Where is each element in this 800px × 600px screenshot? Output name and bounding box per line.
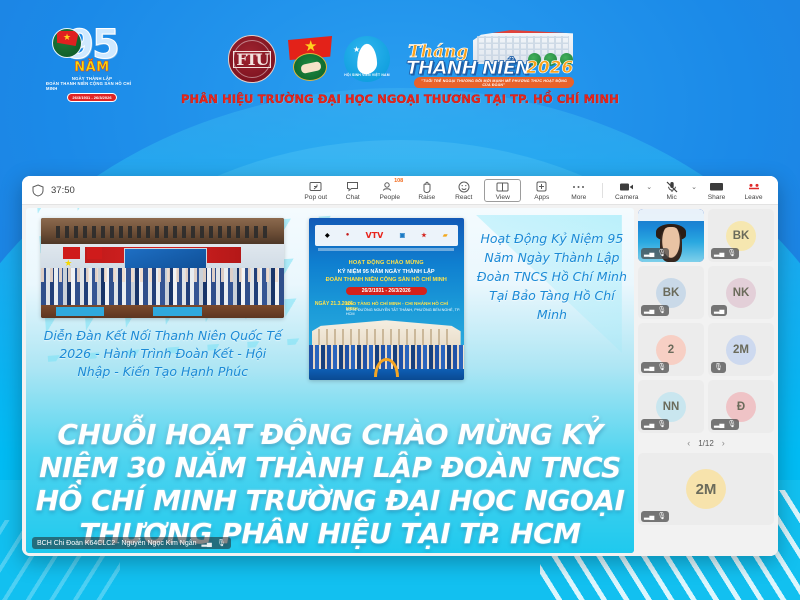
avatar: 2 (656, 335, 686, 365)
raise-hand-icon (421, 181, 432, 193)
react-icon (458, 181, 470, 193)
poster-line-1: HOẠT ĐỘNG CHÀO MỪNG (309, 260, 464, 266)
mic-muted-icon: 🎙 (657, 421, 666, 429)
toolbar-chat-button[interactable]: Chat (334, 178, 371, 203)
hand-icon (300, 61, 321, 74)
tile-status-controls: ▂▄ 🎙 (641, 362, 669, 373)
toolbar-right-group: Pop out Chat 108 People Raise (297, 178, 772, 203)
avatar: 2M (686, 469, 726, 509)
share-screen-button[interactable]: Share (698, 178, 735, 203)
pager-prev-button[interactable]: ‹ (687, 438, 690, 448)
camera-chevron-down-icon[interactable]: ⌄ (645, 176, 653, 203)
slide-photo-caption: Diễn Đàn Kết Nối Thanh Niên Quốc Tế 2026… (41, 327, 284, 381)
doan-emblem-circle (293, 53, 327, 81)
signal-icon: ▂▄ (644, 513, 654, 521)
leave-label: Leave (745, 194, 763, 201)
mic-label: Mic (666, 194, 676, 201)
page-header: 95 ★ NĂM NGÀY THÀNH LẬP ĐOÀN THANH NIÊN … (0, 0, 800, 120)
participants-pager: ‹ 1/12 › (638, 437, 774, 449)
event-poster-image: ◆ ● VTV ▣ ★ ▰ HOẠT ĐỘNG CHÀO MỪNG KỶ NIỆ… (309, 218, 464, 380)
participant-tile[interactable]: BK ▂▄ 🎙 (638, 266, 704, 319)
participant-tile[interactable]: Đ ▂▄ 🎙 (708, 380, 774, 433)
thang-thanh-nien-logo: Tháng THANH NIÊN 2026 "TUỔI TRẺ NGOẠI TH… (404, 30, 579, 88)
participant-tile[interactable]: NK ▂▄ (708, 266, 774, 319)
doan-emblem-icon: ★ (52, 28, 82, 58)
tile-status-controls: ▂▄ 🎙 (711, 248, 739, 259)
avatar: BK (726, 221, 756, 251)
share-screen-icon (709, 181, 724, 193)
avatar: Đ (726, 392, 756, 422)
mic-muted-icon: 🎙 (727, 250, 736, 258)
slide-poster-block: ◆ ● VTV ▣ ★ ▰ HOẠT ĐỘNG CHÀO MỪNG KỶ NIỆ… (309, 218, 464, 380)
toolbar-left-group: 37:50 (28, 184, 75, 197)
anniversary-sub2: ĐOÀN THANH NIÊN CỘNG SẢN HỒ CHÍ MINH (46, 81, 138, 91)
doan-tncs-seal-icon: ★ (286, 35, 334, 83)
signal-icon: ▂▄ (644, 250, 654, 258)
mic-muted-icon: 🎙 (657, 513, 666, 521)
poster-divider (318, 248, 454, 251)
poster-logo-1: ◆ (325, 232, 330, 239)
photo-flag-right (87, 247, 102, 259)
chat-icon (346, 181, 359, 193)
avatar: 2M (726, 335, 756, 365)
toolbar-pop-out-button[interactable]: Pop out (297, 178, 334, 203)
thang-slogan-text: "TUỔI TRẺ NGOẠI THƯƠNG ĐỔI MỚI MẠNH MẼ P… (413, 77, 574, 88)
page-title: PHÂN HIỆU TRƯỜNG ĐẠI HỌC NGOẠI THƯƠNG TẠ… (0, 92, 800, 106)
tile-status-controls: ▂▄ 🎙 (641, 419, 669, 430)
poster-line-2: KỶ NIỆM 95 NĂM NGÀY THÀNH LẬP (309, 269, 464, 275)
presentation-slide: ★ Diễn Đàn Kết Nối Thanh Niên Quốc Tế 20… (26, 208, 634, 553)
meeting-timer: 37:50 (51, 185, 75, 196)
toolbar-react-button[interactable]: React (445, 178, 482, 203)
participant-tile[interactable]: 2 ▂▄ 🎙 (638, 323, 704, 376)
toolbar-apps-label: Apps (534, 194, 549, 201)
participant-tile-video[interactable]: ▂▄ 🎙 (638, 209, 704, 262)
avatar: BK (656, 278, 686, 308)
yellow-star-icon: ★ (304, 39, 317, 54)
star-icon: ★ (63, 33, 71, 42)
mic-button[interactable]: Mic (653, 178, 690, 203)
participant-tile[interactable]: NN ▂▄ 🎙 (638, 380, 704, 433)
ftu-seal-icon: FTU (228, 35, 276, 83)
avatar: NK (726, 278, 756, 308)
mic-chevron-down-icon[interactable]: ⌄ (690, 176, 698, 203)
poster-logo-4: ★ (421, 232, 426, 239)
tile-status-controls: 🎙 (711, 362, 726, 373)
photo-table-cloth-left (56, 307, 105, 316)
slide-photo-block: ★ Diễn Đàn Kết Nối Thanh Niên Quốc Tế 20… (41, 218, 284, 381)
pager-page-label: 1/12 (698, 439, 714, 448)
shared-screen-stage[interactable]: ★ Diễn Đàn Kết Nối Thanh Niên Quốc Tế 20… (26, 208, 634, 553)
thanh-nien-text: THANH NIÊN (406, 57, 530, 79)
header-logo-row: FTU ★ ★ HỘI SINH VIÊN VIỆT NAM Tháng THA… (228, 30, 579, 88)
participant-tile[interactable]: 2M 🎙 (708, 323, 774, 376)
photo-crowd-heads (41, 268, 284, 282)
poster-line-3: ĐOÀN THANH NIÊN CỘNG SẢN HỒ CHÍ MINH (309, 277, 464, 283)
signal-icon: ▂▄ (644, 421, 654, 429)
tile-status-controls: ▂▄ 🎙 (641, 511, 669, 522)
signal-icon: ▂▄ (714, 307, 724, 315)
mic-muted-icon: 🎙 (657, 364, 666, 372)
presenter-name-label: BCH Chi Đoàn K64CLC2 - Nguyễn Ngọc Kim N… (37, 540, 197, 547)
participant-tile[interactable]: BK ▂▄ 🎙 (708, 209, 774, 262)
toolbar-pop-out-label: Pop out (304, 194, 327, 201)
poster-date-badge: 26/3/1931 - 26/3/2026 (346, 287, 427, 295)
apps-icon (536, 181, 547, 193)
pop-out-icon (309, 181, 322, 193)
signal-icon: ▂▄ (714, 250, 724, 258)
poster-logo-2: ● (346, 232, 350, 238)
poster-logo-5: ▰ (443, 232, 448, 239)
group-photo-image: ★ (41, 218, 284, 318)
mic-muted-icon: 🎙 (217, 539, 226, 547)
camera-icon (619, 181, 634, 193)
pager-next-button[interactable]: › (722, 438, 725, 448)
zoom-toolbar: 37:50 Pop out Chat 108 People (22, 176, 778, 205)
mic-muted-icon: 🎙 (727, 421, 736, 429)
toolbar-chat-label: Chat (346, 194, 360, 201)
presenter-name-tag: BCH Chi Đoàn K64CLC2 - Nguyễn Ngọc Kim N… (32, 537, 231, 549)
poster-vtv-logo: VTV (366, 231, 384, 240)
toolbar-people-button[interactable]: 108 People (371, 178, 408, 203)
photo-projector-screen (124, 248, 207, 270)
poster-address: SỐ 01 ĐƯỜNG NGUYỄN TẤT THÀNH, PHƯỜNG BẾN… (346, 308, 461, 316)
toolbar-raise-label: Raise (418, 194, 435, 201)
mic-muted-icon: 🎙 (657, 250, 666, 258)
shield-icon[interactable] (32, 184, 44, 197)
photo-stage-lights (56, 226, 270, 238)
star-icon: ★ (353, 45, 360, 54)
toolbar-apps-button[interactable]: Apps (523, 178, 560, 203)
tile-status-controls: ▂▄ (711, 305, 727, 316)
people-count-badge: 108 (394, 178, 403, 184)
toolbar-more-label: More (571, 194, 586, 201)
zoom-meeting-window: 37:50 Pop out Chat 108 People (22, 176, 778, 556)
toolbar-raise-hand-button[interactable]: Raise (408, 178, 445, 203)
people-icon: 108 (382, 181, 397, 193)
toolbar-more-button[interactable]: More (560, 178, 597, 203)
slide-poster-caption: Hoạt Động Kỷ Niệm 95 Năm Ngày Thành Lập … (476, 229, 628, 324)
toolbar-people-label: People (379, 194, 400, 201)
camera-button[interactable]: Camera (608, 178, 645, 203)
tile-status-controls: ▂▄ 🎙 (641, 305, 669, 316)
mic-muted-icon (666, 181, 678, 193)
camera-label: Camera (615, 194, 638, 201)
toolbar-react-label: React (455, 194, 472, 201)
view-icon (496, 181, 509, 193)
slide-banner-headline: CHUỖI HOẠT ĐỘNG CHÀO MỪNG KỶ NIỆM 30 NĂM… (26, 418, 634, 550)
participants-grid: ▂▄ 🎙 BK ▂▄ 🎙 BK ▂▄ 🎙 (638, 209, 774, 433)
participants-panel: ▂▄ 🎙 BK ▂▄ 🎙 BK ▂▄ 🎙 (636, 205, 778, 556)
signal-icon: ▂▄ (644, 364, 654, 372)
more-icon (572, 181, 585, 193)
photo-table-cloth-right (153, 307, 202, 316)
spotlight-participant-tile[interactable]: 2M ▂▄ 🎙 (638, 453, 774, 525)
leave-icon (747, 181, 761, 193)
tile-status-controls: ▂▄ 🎙 (711, 419, 739, 430)
mic-muted-icon: 🎙 (714, 364, 723, 372)
poster-logo-3: ▣ (399, 232, 405, 239)
leave-button[interactable]: Leave (735, 178, 772, 203)
signal-icon: ▂▄ (202, 539, 212, 547)
participant-video-backdrop (638, 209, 704, 221)
zoom-meeting-body: ★ Diễn Đàn Kết Nối Thanh Niên Quốc Tế 20… (22, 205, 778, 556)
hoi-sinh-vien-seal-icon: ★ HỘI SINH VIÊN VIỆT NAM (344, 36, 390, 82)
mic-muted-icon: 🎙 (657, 307, 666, 315)
toolbar-view-button[interactable]: View (484, 179, 521, 202)
avatar: NN (656, 392, 686, 422)
tile-status-controls: ▂▄ 🎙 (641, 248, 669, 259)
ftu-monogram: FTU (233, 51, 270, 68)
share-label: Share (708, 194, 726, 201)
signal-icon: ▂▄ (644, 307, 654, 315)
thang-year-text: 2026 (526, 58, 573, 78)
toolbar-view-label: View (496, 194, 510, 201)
signal-icon: ▂▄ (714, 421, 724, 429)
poster-logo-bar: ◆ ● VTV ▣ ★ ▰ (315, 225, 458, 246)
hsv-seal-label: HỘI SINH VIÊN VIỆT NAM (344, 73, 390, 77)
toolbar-divider (602, 183, 603, 198)
